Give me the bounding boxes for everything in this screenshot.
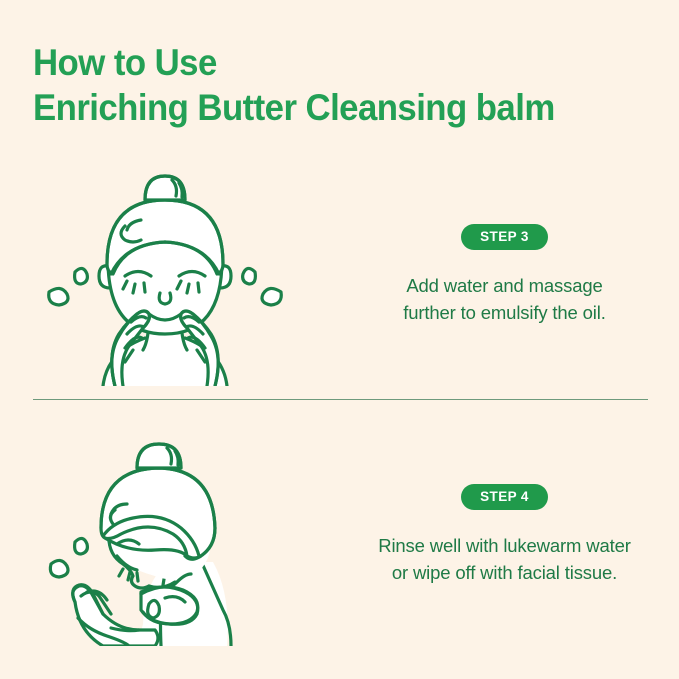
page-title-line-2: Enriching Butter Cleansing balm — [33, 85, 625, 130]
how-to-use-infographic: How to Use Enriching Butter Cleansing ba… — [0, 0, 679, 679]
page-title-line-1: How to Use — [33, 40, 625, 85]
text-cell-step-4: STEP 4 Rinse well with lukewarm water or… — [330, 484, 679, 587]
step-description-3: Add water and massage further to emulsif… — [403, 272, 605, 326]
woman-massaging-face-illustration — [45, 164, 285, 386]
step-description-4: Rinse well with lukewarm water or wipe o… — [378, 532, 631, 586]
woman-rinsing-face-illustration — [45, 424, 285, 646]
text-cell-step-3: STEP 3 Add water and massage further to … — [330, 224, 679, 327]
step-row-3: STEP 3 Add water and massage further to … — [0, 160, 679, 390]
illustration-cell-step-3 — [0, 164, 330, 386]
section-divider — [33, 399, 648, 400]
step-badge-3: STEP 3 — [461, 224, 548, 251]
step-row-4: STEP 4 Rinse well with lukewarm water or… — [0, 415, 679, 655]
illustration-cell-step-4 — [0, 424, 330, 646]
step-badge-4: STEP 4 — [461, 484, 548, 511]
page-title: How to Use Enriching Butter Cleansing ba… — [33, 40, 663, 130]
